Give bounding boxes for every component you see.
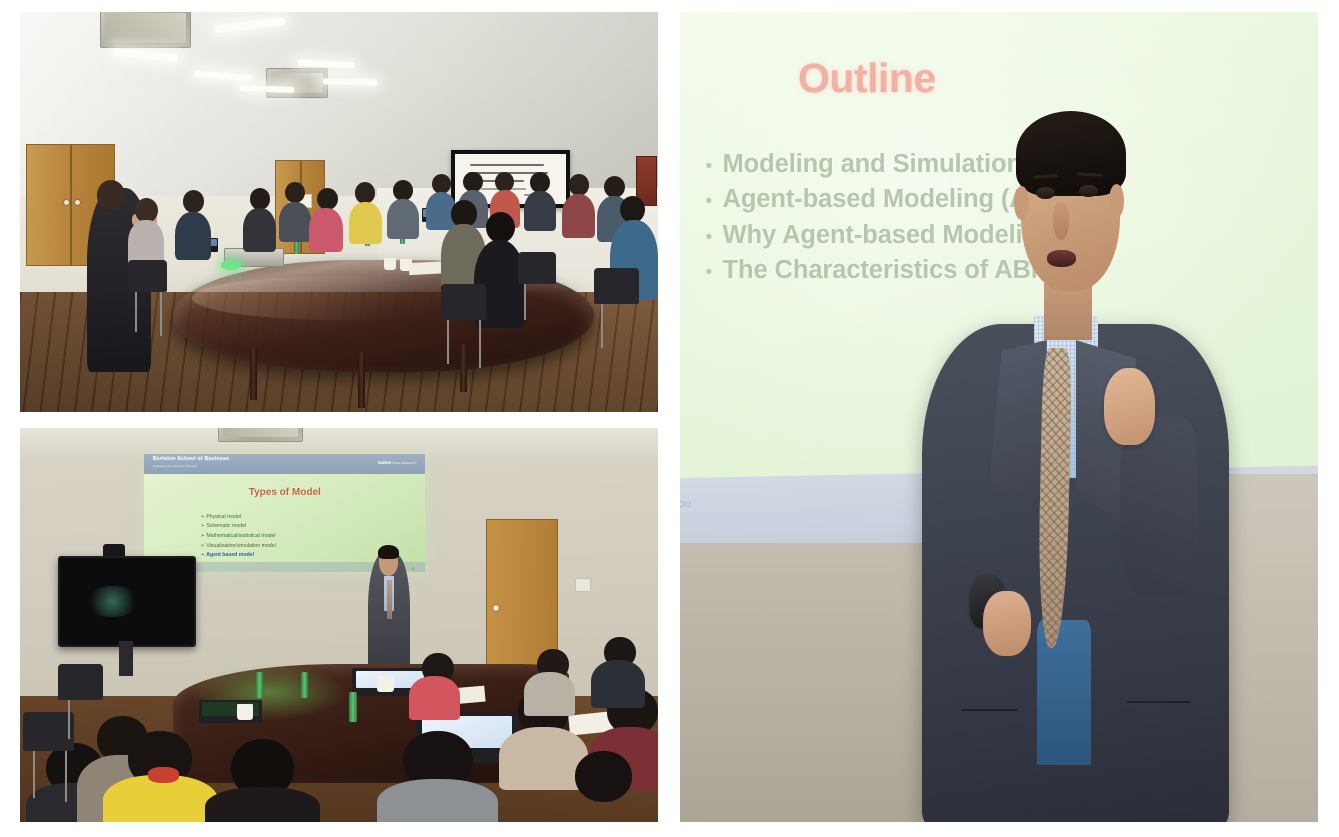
attendee-body [279,202,311,242]
slide-bullet-list: ➢ Physical model ➢ Schematic model ➢ Mat… [201,513,276,561]
slide-bullet: ➢ Mathematical/statistical model [201,532,276,542]
photo-classroom-with-slide: Bertolon School of Business Marketing an… [20,428,658,822]
attendee-head [569,174,589,196]
outline-bullet-list: • Modeling and Simulation • Agent-based … [706,150,1280,292]
attendee-body [524,191,556,231]
water-bottle [349,692,357,722]
light-switch [575,578,591,593]
chair [128,260,166,292]
outline-bullet-item: • Why Agent-based Modeling [706,221,1280,250]
table-leg-3 [460,344,467,392]
attendee-body [349,202,382,244]
attendee-head [250,188,270,210]
chair-leg [33,751,35,798]
logo-text: Salem [378,460,392,465]
slide-title-outline: Outline [798,55,936,102]
speaker-nose [1053,202,1070,239]
slide-title-types-of-model: Types of Model [249,487,321,498]
attendee-head [530,172,550,193]
attendee-body-grey-vest [377,779,498,822]
slide-footer-text: ou [680,498,691,510]
table-leg-1 [250,348,257,400]
attendee-body [591,660,645,707]
slide-bullet: ➢ Visualization/simulation model [201,542,276,552]
attendee-body [409,676,460,719]
chair [441,284,486,320]
attendee-body [175,212,211,260]
slide-bullet: ➢ Physical model [201,513,276,523]
salem-state-logo: Salem STATE UNIVERSITY [378,460,417,465]
attendee-body-leather-jacket [205,787,320,822]
slide-org-name: Bertolon School of Business [153,456,229,462]
presenter-head [97,180,125,210]
table-leg-2 [358,352,365,408]
photo-conference-room-wide [20,12,658,412]
bullet-dot-icon: • [706,228,723,247]
chair [58,664,103,699]
paper-cup [237,704,254,720]
attendee-body [562,194,595,238]
ac-vent-right [266,68,329,98]
speaker-gesturing-hand [1104,368,1155,445]
monitor-stand [119,641,133,676]
speaker-hand-holding-remote [983,591,1031,656]
slide-org-subtitle: Marketing and Decision Sciences [153,464,197,468]
attendee-head-front [486,212,515,243]
jacket-pocket-right [1127,701,1191,703]
bullet-dot-icon: • [706,192,723,211]
paper-cup-1 [384,258,397,270]
attendee-head [604,176,625,198]
chair [518,252,556,284]
chair-leg [160,292,162,336]
chair-leg [601,304,603,348]
outline-bullet-text: Why Agent-based Modeling [723,221,1054,250]
attendee-head-back [575,751,632,802]
red-scarf [148,767,180,783]
chair-leg [135,292,137,332]
speaker-tie [387,580,392,619]
monitor-glare [84,586,141,618]
slide-bullet: ➢ Schematic model [201,522,276,532]
outline-bullet-text: The Characteristics of ABM [723,256,1052,285]
projector-lens-glow [221,260,241,270]
slide-header-band: Bertolon School of Business Marketing an… [144,454,425,474]
speaker-hair [378,545,399,559]
outline-bullet-item: • Modeling and Simulation [706,150,1280,179]
attendee-head [355,182,375,204]
water-bottle [256,672,263,698]
attendee-body [243,208,276,252]
attendee-body [524,672,575,715]
bullet-dot-icon: • [706,157,723,176]
slide-page-number: 5 [412,567,414,571]
chair-leg [447,320,449,364]
photo-speaker-with-outline-slide: Outline • Modeling and Simulation • Agen… [680,12,1318,822]
chair-leg [524,284,526,320]
attendee-head [463,172,482,192]
chair-leg [68,700,70,739]
jacket-pocket-left [961,709,1018,711]
attendee-head [393,180,413,201]
speaker-neck [1044,283,1092,340]
attendee-head [285,182,305,203]
speaker-hair [1016,111,1126,196]
logo-subtext: STATE UNIVERSITY [392,462,416,465]
video-camera [103,544,125,557]
attendee-body [387,199,419,239]
outline-bullet-item: • The Characteristics of ABM [706,256,1280,285]
ceiling-light-6 [323,79,377,86]
outline-bullet-text: Modeling and Simulation [723,150,1022,179]
chair [23,712,74,751]
speaker-eye-left [1036,187,1055,199]
water-bottle [301,672,308,698]
outline-bullet-item: • Agent-based Modeling (ABM) [706,185,1280,214]
attendee-head [432,174,451,194]
slide-bullet-highlighted: ➢ Agent based model [201,551,276,561]
speaker-ear-right [1109,184,1124,218]
speaker-ear-left [1014,186,1029,220]
ac-vent [218,428,303,442]
bullet-dot-icon: • [706,263,723,282]
ac-vent-left [100,12,191,48]
chair [594,268,639,304]
speaker-mouth [1047,250,1075,267]
paper-cup [377,676,394,692]
attendee-body [309,208,343,252]
photo-collage: Bertolon School of Business Marketing an… [0,0,1339,837]
chair-leg [65,751,67,802]
chair-leg [479,320,481,368]
room-wall-right [1229,474,1318,822]
